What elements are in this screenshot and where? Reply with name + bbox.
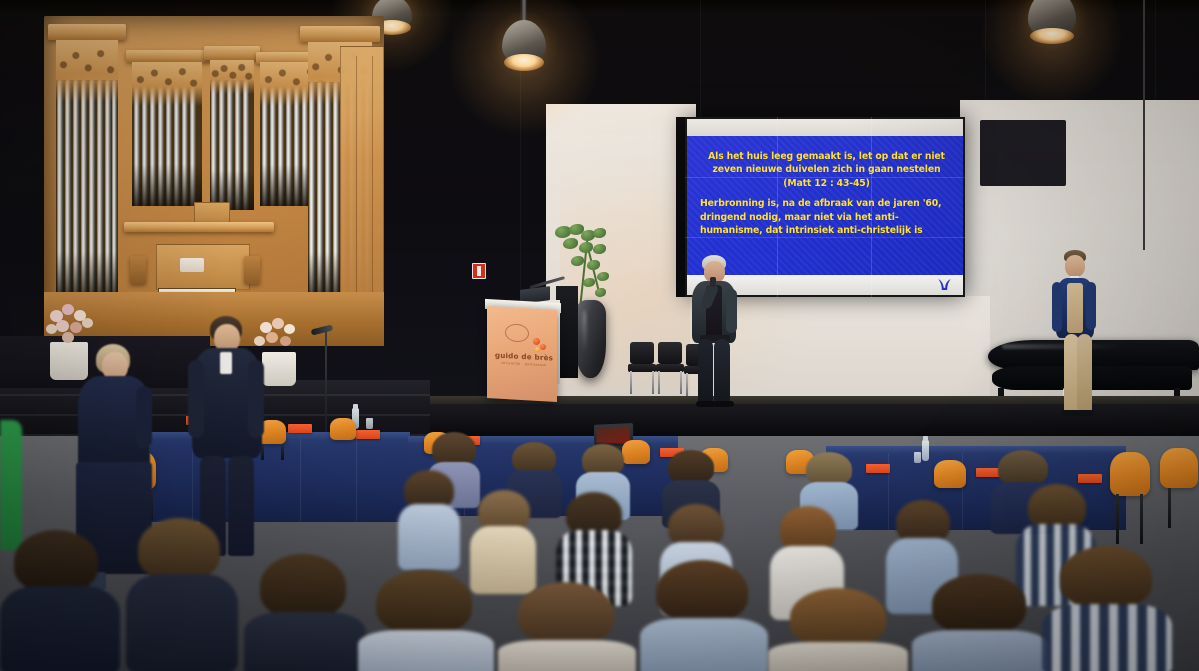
slide-paragraph-2: Herbronning is, na de afbraak van de jar… [700, 197, 953, 237]
stage-chair[interactable] [628, 342, 656, 394]
name-card [356, 430, 380, 439]
audience-person [398, 470, 460, 566]
ceiling-beam [0, 0, 1199, 16]
speaker-shoe-left [696, 401, 716, 407]
speaker-arm-down [726, 289, 737, 333]
drinking-glass [914, 452, 921, 463]
audience-chair[interactable] [934, 460, 968, 504]
audience-person [768, 588, 908, 671]
name-card [866, 464, 890, 473]
audience-person [912, 574, 1048, 671]
audience-person [0, 530, 120, 671]
audience-chair[interactable] [1110, 452, 1152, 544]
microphone-stand [325, 330, 327, 440]
host-waistcoat [1067, 283, 1083, 333]
speaker-leg-left [698, 339, 713, 403]
host-arm-left [1052, 282, 1062, 332]
audience-person [1042, 546, 1172, 671]
floor-vase [575, 300, 606, 378]
flower-vase-center [262, 352, 296, 386]
audience-person [498, 582, 636, 671]
auditorium-scene: Als het huis leeg gemaakt is, let op dat… [0, 0, 1199, 671]
name-card [288, 424, 312, 433]
vase-highlight [582, 310, 587, 354]
host-arm-right [1086, 282, 1096, 330]
man-arm-right [248, 360, 264, 438]
stage-chair[interactable] [656, 342, 684, 394]
audience-person [126, 518, 238, 671]
bird-logo-icon [936, 277, 953, 292]
name-card [1078, 474, 1102, 483]
woman-arm [136, 386, 152, 448]
pendant-lamp-2 [1024, 0, 1080, 62]
slide-top-margin [687, 119, 963, 136]
host-head [1065, 255, 1085, 277]
speaker-shoe-right [714, 401, 734, 407]
handheld-microphone [710, 277, 716, 287]
speaker-leg-right [714, 339, 730, 403]
audience-person [640, 560, 768, 671]
man-shirt-collar [220, 352, 232, 374]
person-speaker [686, 255, 740, 410]
man-arm-left [188, 360, 204, 438]
audience-person [244, 554, 366, 671]
pendant-lamp-1 [496, 0, 552, 78]
fire-extinguisher-sign [472, 263, 486, 279]
drinking-glass [366, 418, 373, 429]
wall-black-panel [980, 120, 1066, 186]
audience-chair[interactable] [330, 418, 358, 454]
lectern: guido de brès christelijk · gymnasium [487, 300, 561, 400]
water-bottle [922, 440, 929, 461]
person-host-right [1050, 250, 1100, 426]
audience-person [358, 570, 494, 671]
host-shoe-right [1076, 410, 1094, 416]
host-leg-right [1077, 334, 1092, 412]
pendant-cable [1140, 0, 1148, 250]
audience-chair[interactable] [1160, 448, 1199, 528]
pipe-organ [44, 16, 384, 346]
slide-paragraph-1: Als het huis leeg gemaakt is, let op dat… [700, 150, 953, 190]
